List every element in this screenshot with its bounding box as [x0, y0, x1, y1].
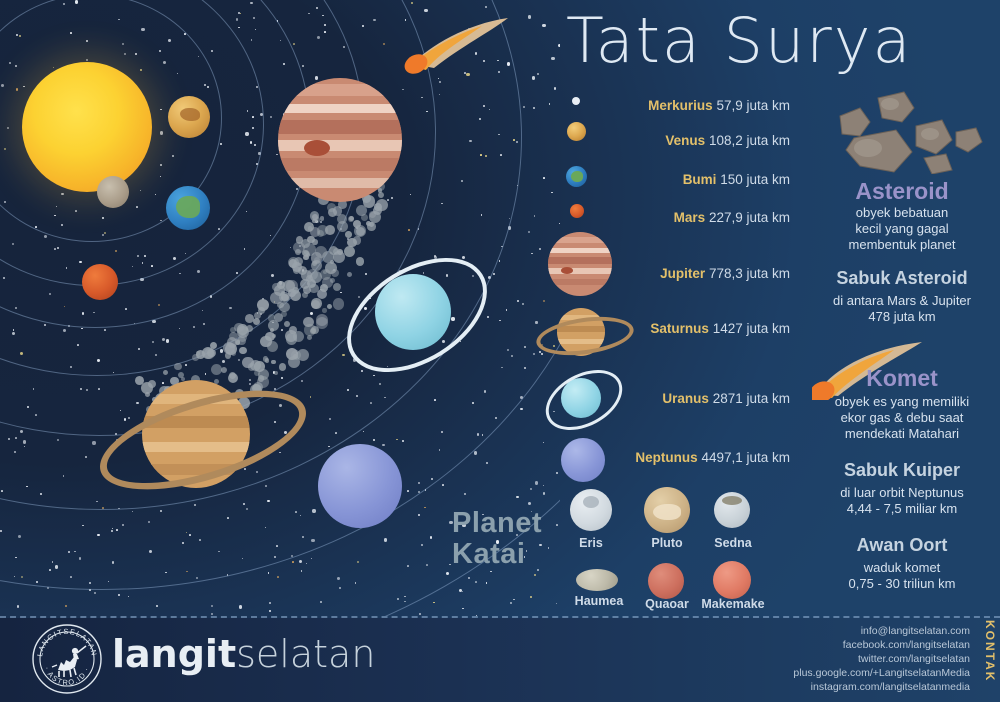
awan-oort-heading: Awan Oort — [812, 535, 992, 556]
merkurius-icon — [572, 97, 580, 105]
asteroid-rocks-illustration — [816, 88, 992, 174]
haumea-label: Haumea — [566, 594, 632, 608]
jupiter-icon — [548, 232, 612, 296]
planet-row: Merkurius 57,9 juta km — [610, 98, 790, 113]
planet-distance: 4497,1 juta km — [701, 450, 790, 465]
brand-bold: langit — [112, 632, 236, 676]
sun-illustration — [22, 62, 152, 192]
dwarf-planet-heading: Planet Katai — [452, 508, 542, 569]
quaoar-illustration — [648, 563, 684, 599]
asteroid-heading: Asteroid — [812, 178, 992, 205]
planet-row: Neptunus 4497,1 juta km — [610, 450, 790, 465]
planet-distance: 57,9 juta km — [716, 98, 790, 113]
planet-name: Neptunus — [635, 450, 697, 465]
sabuk-kuiper-heading: Sabuk Kuiper — [812, 460, 992, 481]
pluto-label: Pluto — [636, 536, 698, 550]
makemake-label: Makemake — [700, 597, 766, 611]
neptune-illustration — [318, 444, 402, 528]
sabuk-kuiper-body: di luar orbit Neptunus 4,44 - 7,5 miliar… — [812, 485, 992, 517]
footer-divider — [0, 616, 1000, 618]
planet-row: Uranus 2871 juta km — [610, 391, 790, 406]
planet-name: Mars — [674, 210, 706, 225]
planet-name: Venus — [665, 133, 705, 148]
mercury-illustration — [97, 176, 129, 208]
awan-oort-body: waduk komet 0,75 - 30 triliun km — [812, 560, 992, 592]
planet-name: Saturnus — [650, 321, 709, 336]
eris-label: Eris — [560, 536, 622, 550]
planet-distance: 227,9 juta km — [709, 210, 790, 225]
svg-text:LANGITSELATAN: LANGITSELATAN — [35, 627, 99, 657]
makemake-illustration — [713, 561, 751, 599]
sabuk-asteroid-body: di antara Mars & Jupiter 478 juta km — [812, 293, 992, 325]
neptunus-icon — [561, 438, 605, 482]
komet-body: obyek es yang memiliki ekor gas & debu s… — [812, 394, 992, 442]
planet-name: Jupiter — [660, 266, 705, 281]
dwarf-heading-line2: Katai — [452, 539, 542, 570]
contact-facebook[interactable]: facebook.com/langitselatan — [843, 639, 970, 651]
quaoar-label: Quaoar — [634, 597, 700, 611]
brand-light: selatan — [236, 632, 375, 676]
jupiter-illustration — [278, 78, 402, 202]
planet-row: Jupiter 778,3 juta km — [610, 266, 790, 281]
planet-name: Uranus — [662, 391, 709, 406]
mars-icon — [570, 204, 584, 218]
planet-distance: 2871 juta km — [713, 391, 790, 406]
page-title: Tata Surya — [566, 4, 912, 77]
asteroid-body: obyek bebatuan kecil yang gagal membentu… — [812, 205, 992, 253]
contact-googleplus[interactable]: plus.google.com/+LangitselatanMedia — [793, 667, 970, 679]
earth-landmass — [176, 196, 200, 218]
planet-row: Mars 227,9 juta km — [610, 210, 790, 225]
planet-distance: 108,2 juta km — [709, 133, 790, 148]
langitselatan-logo: LANGITSELATAN · ASTRO.ID · — [30, 622, 104, 696]
planet-name: Merkurius — [648, 98, 713, 113]
sedna-label: Sedna — [702, 536, 764, 550]
contact-email[interactable]: info@langitselatan.com — [861, 625, 970, 637]
planet-distance: 778,3 juta km — [709, 266, 790, 281]
contact-instagram[interactable]: instagram.com/langitselatanmedia — [811, 681, 970, 693]
planet-row: Bumi 150 juta km — [610, 172, 790, 187]
bumi-icon-land — [571, 171, 583, 182]
kontak-label: KONTAK — [984, 620, 996, 682]
sedna-surface-detail — [722, 496, 742, 505]
planet-row: Venus 108,2 juta km — [610, 133, 790, 148]
infographic-poster: Tata Surya Merkurius 57,9 juta k — [0, 0, 1000, 702]
sabuk-asteroid-heading: Sabuk Asteroid — [812, 268, 992, 289]
venus-icon — [567, 122, 586, 141]
planet-distance: 1427 juta km — [713, 321, 790, 336]
planet-row: Saturnus 1427 juta km — [610, 321, 790, 336]
pluto-surface-detail — [653, 504, 681, 520]
mars-illustration — [82, 264, 118, 300]
contact-twitter[interactable]: twitter.com/langitselatan — [858, 653, 970, 665]
brand-wordmark: langitselatan — [112, 632, 375, 676]
planet-distance: 150 juta km — [720, 172, 790, 187]
komet-heading: Komet — [812, 365, 992, 392]
eris-surface-detail — [583, 496, 599, 508]
planet-name: Bumi — [683, 172, 717, 187]
venus-surface-detail — [180, 108, 200, 121]
dwarf-heading-line1: Planet — [452, 508, 542, 539]
haumea-illustration — [576, 569, 618, 591]
comet-illustration — [404, 16, 524, 74]
